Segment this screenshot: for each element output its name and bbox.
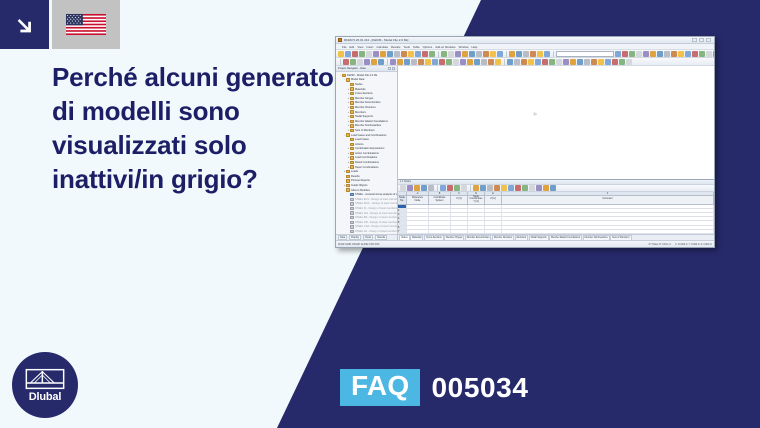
folder-icon [350, 106, 354, 109]
table-tab-member-eccentricities[interactable]: Member Eccentricities [465, 235, 492, 240]
toolbar-button-icon[interactable] [535, 59, 541, 65]
toolbar-button-icon[interactable] [636, 51, 642, 57]
toolbar-button-icon[interactable] [657, 51, 663, 57]
toolbar-button-icon[interactable] [508, 185, 514, 191]
toolbar-button-icon[interactable] [455, 51, 461, 57]
folder-icon [346, 179, 350, 182]
folder-icon [350, 97, 354, 100]
folder-icon [350, 165, 354, 168]
table-cell-com[interactable] [502, 230, 714, 233]
toolbar-button-icon[interactable] [447, 185, 453, 191]
tree-item-label: Sets of Members [355, 129, 375, 132]
menu-item-help[interactable]: Help [472, 45, 478, 49]
folder-icon [350, 83, 354, 86]
tree-item-label: Member Nonlinearities [355, 124, 381, 127]
table-cell-y[interactable] [468, 221, 485, 224]
tree-item-label: Load Combinations [355, 156, 377, 159]
folder-icon [350, 138, 354, 141]
toolbar-button-icon[interactable] [461, 185, 467, 191]
model-icon [342, 74, 346, 77]
table-column-number[interactable]: B [429, 192, 451, 195]
toolbar-button-icon[interactable] [387, 51, 393, 57]
toolbar-button-icon[interactable] [474, 59, 480, 65]
table-grid[interactable]: ABCDEF NodeNo.ReferenceNodeCoordinateSys… [398, 192, 714, 234]
table-cell-ref[interactable] [407, 213, 429, 216]
folder-icon [350, 110, 354, 113]
toolbar-separator [437, 185, 438, 191]
folder-icon [350, 124, 354, 127]
module-icon [350, 225, 354, 228]
toolbar-button-icon[interactable] [428, 185, 434, 191]
table-cell-x[interactable] [451, 230, 468, 233]
toolbar-button-icon[interactable] [408, 51, 414, 57]
model-viewport[interactable]: ▷ 1.1 Nodes ABCDEF NodeNo.ReferenceNodeC… [398, 66, 714, 240]
menu-item-insert[interactable]: Insert [366, 45, 373, 49]
navigator-pin-button[interactable] [388, 67, 391, 70]
menu-item-table[interactable]: Table [413, 45, 420, 49]
toolbar-button-icon[interactable] [522, 185, 528, 191]
table-column-header[interactable]: NodeNo. [398, 196, 407, 204]
arrow-down-right-badge [0, 0, 49, 49]
table-cell-ref[interactable] [407, 226, 429, 229]
maximize-button[interactable] [699, 38, 704, 42]
status-modes: SNAP GRID OSNAP GLINE CS/P DXF [338, 243, 380, 246]
toolbar-button-icon[interactable] [563, 59, 569, 65]
toolbar-button-icon[interactable] [462, 51, 468, 57]
module-icon [350, 230, 354, 233]
tree-item-label: Combination Expressions [355, 147, 384, 150]
toolbar-button-icon[interactable] [378, 59, 384, 65]
folder-icon [346, 170, 350, 173]
toolbar-button-icon[interactable] [550, 185, 556, 191]
tree-item-label: Cross-Sections [355, 92, 373, 95]
rfem-app-icon [338, 38, 342, 42]
table-cell-x[interactable] [451, 209, 468, 212]
folder-icon [350, 120, 354, 123]
toolbar-button-icon[interactable] [494, 185, 500, 191]
toolbar-button-icon[interactable] [556, 59, 562, 65]
tree-item-label: STEEL GB - Design of steel members [355, 221, 397, 224]
toolbar-button-icon[interactable] [591, 59, 597, 65]
tree-item-label: Member Hinges [355, 97, 373, 100]
table-tab-sets-of-members[interactable]: Sets of Members [610, 235, 631, 240]
toolbar-button-icon[interactable] [418, 59, 424, 65]
toolbar-button-icon[interactable] [432, 59, 438, 65]
tree-item-label: Results [351, 175, 360, 178]
toolbar-button-icon[interactable] [509, 51, 515, 57]
toolbar-button-icon[interactable] [394, 51, 400, 57]
toolbar-button-icon[interactable] [514, 59, 520, 65]
module-icon [350, 193, 354, 196]
toolbar-button-icon[interactable] [626, 59, 632, 65]
toolbar-button-icon[interactable] [570, 59, 576, 65]
toolbar-button-icon[interactable] [664, 51, 670, 57]
toolbar-button-icon[interactable] [692, 51, 698, 57]
table-cell-cs[interactable] [429, 221, 451, 224]
table-cell-idx[interactable]: 2 [398, 209, 407, 212]
toolbar-button-icon[interactable] [605, 59, 611, 65]
tree-item-label: Nodal Supports [355, 115, 373, 118]
tree-item-label: STEEL SIA - Design of steel members [355, 212, 397, 215]
tree-item-label: Member Eccentricities [355, 101, 381, 104]
table-title-text: 1.1 Nodes [400, 180, 411, 183]
toolbar-button-icon[interactable] [501, 185, 507, 191]
toolbar-button-icon[interactable] [487, 185, 493, 191]
table-cell-z[interactable] [485, 205, 502, 208]
navigator-title: Project Navigator - Data [338, 67, 366, 70]
close-button[interactable] [706, 38, 711, 42]
toolbar-button-icon[interactable] [338, 51, 344, 57]
table-cell-cs[interactable] [429, 213, 451, 216]
folder-icon [350, 143, 354, 146]
table-tab-member-elastic-foundations[interactable]: Member Elastic Foundations [549, 235, 582, 240]
menu-item-window[interactable]: Window [459, 45, 469, 49]
toolbar-button-icon[interactable] [414, 185, 420, 191]
faq-number: 005034 [431, 372, 528, 404]
toolbar-button-icon[interactable] [481, 59, 487, 65]
tree-item-label: Printout Reports [351, 179, 370, 182]
table-cell-y[interactable] [468, 213, 485, 216]
table-cell-x[interactable] [451, 205, 468, 208]
navigator-close-button[interactable] [392, 67, 395, 70]
table-cell-cs[interactable] [429, 209, 451, 212]
toolbar-button-icon[interactable] [380, 51, 386, 57]
folder-icon [350, 92, 354, 95]
toolbar-button-icon[interactable] [440, 185, 446, 191]
toolbar-button-icon[interactable] [453, 59, 459, 65]
table-cell-y[interactable] [468, 230, 485, 233]
toolbar-button-icon[interactable] [598, 59, 604, 65]
table-cell-idx[interactable]: 1 [398, 205, 407, 208]
toolbar-button-icon[interactable] [507, 59, 513, 65]
toolbar-button-icon[interactable] [480, 185, 486, 191]
table-tab-strip[interactable]: NodesMaterialsCross-SectionsMember Hinge… [398, 234, 714, 240]
table-cell-z[interactable] [485, 209, 502, 212]
toolbar-button-icon[interactable] [422, 51, 428, 57]
toolbar-button-icon[interactable] [397, 59, 403, 65]
status-bar: SNAP GRID OSNAP GLINE CS/P DXF XY Plane … [336, 240, 714, 247]
module-icon [350, 207, 354, 210]
toolbar-button-icon[interactable] [671, 51, 677, 57]
folder-icon [350, 129, 354, 132]
dlubal-logo-text: Dlubal [29, 391, 61, 403]
table-cell-z[interactable] [485, 217, 502, 220]
table-column-header[interactable]: X [m] [451, 196, 468, 204]
tree-item-label: Member Elastic Foundations [355, 120, 388, 123]
table-cell-x[interactable] [451, 226, 468, 229]
toolbar-button-icon[interactable] [404, 59, 410, 65]
table-cell-idx[interactable]: 3 [398, 213, 407, 216]
toolbar-dropdown[interactable] [556, 51, 614, 57]
tree-item-label: Nodes [355, 83, 363, 86]
table-cell-y[interactable] [468, 226, 485, 229]
table-cell-ref[interactable] [407, 217, 429, 220]
toolbar-button-icon[interactable] [542, 59, 548, 65]
table-cell-x[interactable] [451, 213, 468, 216]
toolbar-button-icon[interactable] [429, 51, 435, 57]
tree-item-label: STEEL CSA - Design of steel members [355, 225, 397, 228]
menu-item-add-on-modules[interactable]: Add-on Modules [435, 45, 455, 49]
table-tab-members[interactable]: Members [515, 235, 529, 240]
toolbar-separator [506, 51, 507, 57]
module-icon [350, 198, 354, 201]
toolbar-button-icon[interactable] [415, 51, 421, 57]
window-title: RFEM 5.26.01 x64 - [FE036 - Model File 2… [344, 38, 408, 42]
table-cell-com[interactable] [502, 209, 714, 212]
toolbar-button-icon[interactable] [543, 185, 549, 191]
mouse-cursor-icon: ▷ [534, 111, 537, 116]
toolbar-button-icon[interactable] [390, 59, 396, 65]
tree-item-label: Action Combinations [355, 152, 379, 155]
toolbar-button-icon[interactable] [619, 59, 625, 65]
folder-icon [346, 188, 350, 191]
menu-item-options[interactable]: Options [423, 45, 433, 49]
module-icon [350, 221, 354, 224]
tree-item-label: Super Combinations [355, 166, 379, 169]
toolbar-button-icon[interactable] [371, 59, 377, 65]
window-controls[interactable] [692, 38, 712, 42]
secondary-toolbar[interactable] [336, 58, 714, 66]
table-cell-x[interactable] [451, 221, 468, 224]
folder-icon [350, 152, 354, 155]
toolbar-separator [470, 185, 471, 191]
toolbar-button-icon[interactable] [460, 59, 466, 65]
toolbar-separator [553, 51, 554, 57]
toolbar-separator [504, 59, 505, 65]
toolbar-button-icon[interactable] [400, 185, 406, 191]
minimize-button[interactable] [692, 38, 697, 42]
folder-icon [350, 115, 354, 118]
toolbar-button-icon[interactable] [650, 51, 656, 57]
table-column-header[interactable]: ReferenceNode [407, 196, 429, 204]
table-tab-nodes[interactable]: Nodes [399, 235, 410, 240]
toolbar-button-icon[interactable] [345, 51, 351, 57]
dlubal-logo: Dlubal [12, 352, 78, 418]
menu-item-results[interactable]: Results [391, 45, 400, 49]
toolbar-button-icon[interactable] [706, 51, 712, 57]
toolbar-button-icon[interactable] [699, 51, 705, 57]
toolbar-button-icon[interactable] [549, 59, 555, 65]
toolbar-button-icon[interactable] [401, 51, 407, 57]
tree-item-label: Actions [355, 143, 364, 146]
toolbar-button-icon[interactable] [439, 59, 445, 65]
toolbar-button-icon[interactable] [678, 51, 684, 57]
table-tab-cross-sections[interactable]: Cross-Sections [424, 235, 444, 240]
table-cell-z[interactable] [485, 213, 502, 216]
table-tab-member-hinges[interactable]: Member Hinges [444, 235, 464, 240]
toolbar-button-icon[interactable] [476, 51, 482, 57]
tree-item-label: Load Cases [355, 138, 369, 141]
faq-badge: FAQ [340, 369, 420, 406]
table-cell-idx[interactable]: 7 [398, 230, 407, 233]
table-column-number[interactable]: E [485, 192, 502, 195]
toolbar-button-icon[interactable] [713, 51, 715, 57]
table-cell-ref[interactable] [407, 209, 429, 212]
table-panel[interactable]: 1.1 Nodes ABCDEF NodeNo.ReferenceNodeCoo… [398, 179, 714, 240]
toolbar-button-icon[interactable] [454, 185, 460, 191]
toolbar-button-icon[interactable] [612, 59, 618, 65]
toolbar-button-icon[interactable] [425, 59, 431, 65]
rfem-application-window[interactable]: RFEM 5.26.01 x64 - [FE036 - Model File 2… [335, 36, 715, 248]
toolbar-button-icon[interactable] [421, 185, 427, 191]
toolbar-button-icon[interactable] [544, 51, 550, 57]
project-navigator[interactable]: Project Navigator - Data -FE036 - Model … [336, 66, 398, 240]
tree-item-label: STEEL AISC - Design of steel members [355, 202, 397, 205]
table-cell-cs[interactable] [429, 230, 451, 233]
toolbar-button-icon[interactable] [577, 59, 583, 65]
folder-icon [346, 175, 350, 178]
toolbar-button-icon[interactable] [411, 59, 417, 65]
toolbar-button-icon[interactable] [521, 59, 527, 65]
toolbar-button-icon[interactable] [488, 59, 494, 65]
table-column-number[interactable]: A [407, 192, 429, 195]
table-column-header[interactable]: Comment [502, 196, 714, 204]
main-toolbar[interactable] [336, 50, 714, 58]
table-cell-idx[interactable]: 5 [398, 221, 407, 224]
table-tab-member-divisions[interactable]: Member Divisions [492, 235, 514, 240]
table-cell-x[interactable] [451, 217, 468, 220]
tree-item-label: STEEL - General stress analysis of steel [355, 193, 397, 196]
faq-strip: FAQ 005034 [340, 369, 529, 406]
tree-item-label: Add-on Modules [351, 189, 370, 192]
toolbar-button-icon[interactable] [373, 51, 379, 57]
tree-item-label: Members [355, 111, 366, 114]
toolbar-button-icon[interactable] [529, 185, 535, 191]
toolbar-separator [387, 59, 388, 65]
tree-item-label: STEEL IS - Design of steel members [355, 207, 397, 210]
tree-item-label: STEEL EC3 - Design of steel members [355, 198, 397, 201]
toolbar-button-icon[interactable] [441, 51, 447, 57]
folder-icon [346, 184, 350, 187]
menu-item-calculate[interactable]: Calculate [376, 45, 388, 49]
toolbar-button-icon[interactable] [530, 51, 536, 57]
menu-item-edit[interactable]: Edit [350, 45, 355, 49]
toolbar-button-icon[interactable] [467, 59, 473, 65]
toolbar-button-icon[interactable] [352, 51, 358, 57]
table-rows[interactable]: 1234567 [398, 205, 714, 234]
table-column-header[interactable]: Node CoordinatesY [m] [468, 196, 485, 204]
table-cell-cs[interactable] [429, 217, 451, 220]
toolbar-button-icon[interactable] [497, 51, 503, 57]
toolbar-button-icon[interactable] [629, 51, 635, 57]
table-tab-nodal-supports[interactable]: Nodal Supports [529, 235, 549, 240]
tree-item-label: STEEL BS - Design of steel members [355, 216, 397, 219]
toolbar-button-icon[interactable] [643, 51, 649, 57]
language-flag-tile [52, 0, 120, 49]
table-cell-idx[interactable]: 4 [398, 217, 407, 220]
table-cell-y[interactable] [468, 217, 485, 220]
folder-icon [346, 78, 350, 81]
toolbar-button-icon[interactable] [473, 185, 479, 191]
application-body: Project Navigator - Data -FE036 - Model … [336, 66, 714, 240]
table-cell-cs[interactable] [429, 205, 451, 208]
toolbar-button-icon[interactable] [359, 51, 365, 57]
toolbar-button-icon[interactable] [366, 51, 372, 57]
table-cell-z[interactable] [485, 230, 502, 233]
toolbar-button-icon[interactable] [523, 51, 529, 57]
table-cell-z[interactable] [485, 226, 502, 229]
table-cell-com[interactable] [502, 221, 714, 224]
table-cell-y[interactable] [468, 205, 485, 208]
toolbar-button-icon[interactable] [615, 51, 621, 57]
toolbar-button-icon[interactable] [364, 59, 370, 65]
tree-item-label: Result Combinations [355, 161, 379, 164]
table-cell-y[interactable] [468, 209, 485, 212]
menu-item-view[interactable]: View [357, 45, 363, 49]
toolbar-button-icon[interactable] [490, 51, 496, 57]
menu-item-tools[interactable]: Tools [403, 45, 410, 49]
tree-item-label: Guide Objects [351, 184, 367, 187]
folder-icon [350, 161, 354, 164]
navigator-tree[interactable]: -FE036 - Model File 2.0 FE-Model DataNod… [336, 72, 397, 234]
toolbar-separator [340, 59, 341, 65]
toolbar-button-icon[interactable] [469, 51, 475, 57]
toolbar-button-icon[interactable] [407, 185, 413, 191]
table-column-header[interactable]: CoordinateSystem [429, 196, 451, 204]
toolbar-button-icon[interactable] [622, 51, 628, 57]
toolbar-button-icon[interactable] [483, 51, 489, 57]
toolbar-button-icon[interactable] [536, 185, 542, 191]
arrow-down-right-icon [14, 14, 36, 36]
table-cell-ref[interactable] [407, 205, 429, 208]
folder-icon [350, 156, 354, 159]
table-cell-idx[interactable]: 6 [398, 226, 407, 229]
toolbar-button-icon[interactable] [357, 59, 363, 65]
table-cell-ref[interactable] [407, 230, 429, 233]
window-titlebar[interactable]: RFEM 5.26.01 x64 - [FE036 - Model File 2… [336, 37, 714, 44]
table-cell-z[interactable] [485, 221, 502, 224]
table-tab-member-nonlinearities[interactable]: Member Nonlinearities [583, 235, 610, 240]
table-column-number[interactable]: C [451, 192, 468, 195]
table-cell-ref[interactable] [407, 221, 429, 224]
status-coordinates: X: 10.000 m Y: 0.000 m Z: 0.000 m [675, 243, 712, 246]
toolbar-button-icon[interactable] [448, 51, 454, 57]
folder-icon [350, 101, 354, 104]
menu-item-file[interactable]: File [342, 45, 347, 49]
toolbar-button-icon[interactable] [516, 51, 522, 57]
toolbar-button-icon[interactable] [685, 51, 691, 57]
toolbar-button-icon[interactable] [515, 185, 521, 191]
folder-icon [350, 147, 354, 150]
tree-item-label: Member Divisions [355, 106, 376, 109]
toolbar-button-icon[interactable] [537, 51, 543, 57]
model-canvas[interactable]: ▷ [398, 66, 714, 179]
table-tab-materials[interactable]: Materials [410, 235, 423, 240]
toolbar-button-icon[interactable] [446, 59, 452, 65]
table-cell-cs[interactable] [429, 226, 451, 229]
toolbar-button-icon[interactable] [528, 59, 534, 65]
status-plane: XY Plane H: 0 Pos: 0 [649, 243, 671, 246]
folder-icon [350, 87, 354, 90]
dlubal-bridge-icon [25, 368, 65, 390]
navigator-header-buttons[interactable] [388, 67, 395, 70]
table-cell-com[interactable] [502, 217, 714, 220]
table-cell-com[interactable] [502, 205, 714, 208]
table-column-headers: NodeNo.ReferenceNodeCoordinateSystemX [m… [398, 196, 714, 205]
table-cell-com[interactable] [502, 226, 714, 229]
toolbar-button-icon[interactable] [495, 59, 501, 65]
toolbar-button-icon[interactable] [343, 59, 349, 65]
table-column-number[interactable]: F [502, 192, 714, 195]
table-toolbar[interactable] [398, 185, 714, 192]
table-column-number[interactable] [398, 192, 407, 195]
toolbar-button-icon[interactable] [350, 59, 356, 65]
table-cell-com[interactable] [502, 213, 714, 216]
table-column-header[interactable]: Z [m] [485, 196, 502, 204]
toolbar-button-icon[interactable] [584, 59, 590, 65]
module-icon [350, 211, 354, 214]
tree-item-label: Model Data [351, 78, 364, 81]
